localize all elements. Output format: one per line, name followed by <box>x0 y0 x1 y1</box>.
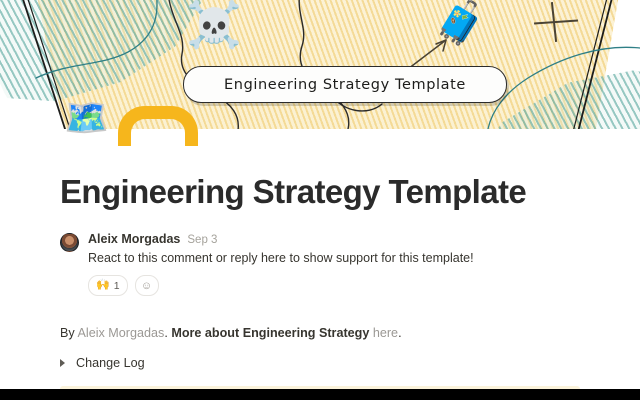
reaction-count: 1 <box>114 280 120 292</box>
toggle-change-log[interactable]: Change Log <box>60 356 580 370</box>
chevron-right-icon[interactable] <box>60 359 65 367</box>
avatar[interactable] <box>60 233 79 252</box>
skull-and-crossbones-icon: ☠️ <box>186 2 242 47</box>
cover-title-text: Engineering Strategy Template <box>224 77 466 93</box>
comment-reactions: 🙌 1 ☺ <box>88 275 474 296</box>
page-comment: Aleix Morgadas Sep 3 React to this comme… <box>60 232 580 296</box>
byline-author-link[interactable]: Aleix Morgadas <box>78 326 165 340</box>
comment-author[interactable]: Aleix Morgadas <box>88 232 180 246</box>
byline-paragraph: By Aleix Morgadas. More about Engineerin… <box>60 324 580 343</box>
comment-text: React to this comment or reply here to s… <box>88 249 474 267</box>
notion-page: ☠️ 🧳 Engineering Strategy Template 🗺️ En… <box>0 0 640 400</box>
bottom-bar <box>0 389 640 400</box>
byline-strong-text: More about Engineering Strategy <box>171 326 369 340</box>
page-icon-world-map[interactable]: 🗺️ <box>64 100 109 136</box>
smiley-plus-icon: ☺ <box>141 280 152 292</box>
byline-here-link[interactable]: here <box>373 326 398 340</box>
cover-arc-decoration <box>118 106 198 146</box>
treasure-chest-icon: 🧳 <box>434 2 486 44</box>
comment-date: Sep 3 <box>187 234 217 246</box>
page-content: Engineering Strategy Template Aleix Morg… <box>0 129 640 400</box>
toggle-label: Change Log <box>76 356 145 370</box>
x-marks-the-spot-icon <box>534 2 578 42</box>
byline-suffix: . <box>398 326 402 340</box>
raised-hands-icon: 🙌 <box>96 280 110 291</box>
reaction-chip[interactable]: 🙌 1 <box>88 275 128 296</box>
add-reaction-button[interactable]: ☺ <box>135 275 159 296</box>
byline-prefix: By <box>60 326 78 340</box>
cover-title-plaque: Engineering Strategy Template <box>183 66 507 103</box>
